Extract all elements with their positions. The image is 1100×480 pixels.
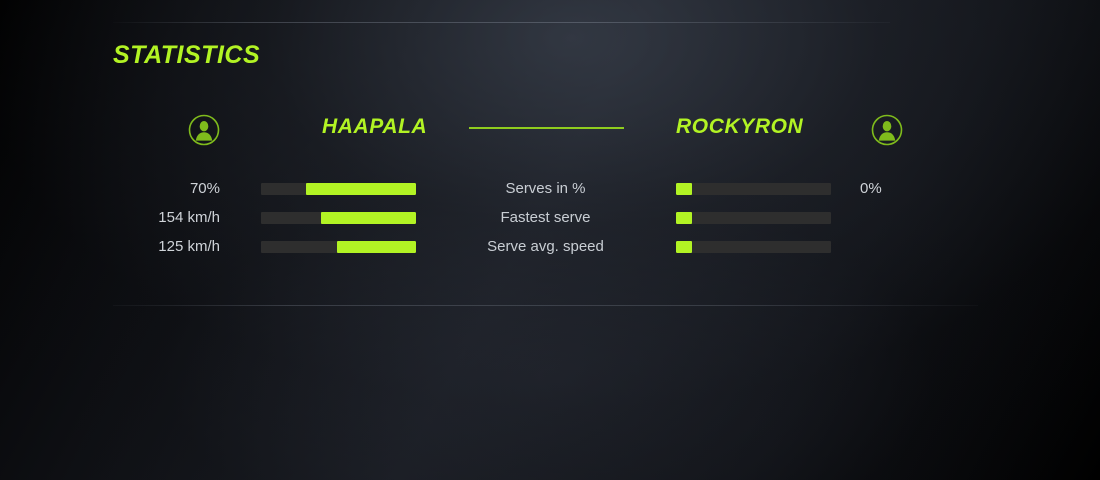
stat-row: 70% Serves in % 0%	[0, 178, 1100, 207]
bottom-divider	[113, 305, 978, 306]
left-bar-track	[261, 241, 416, 253]
left-bar-fill	[321, 212, 416, 224]
header-center-divider	[469, 127, 624, 129]
stats-rows: 70% Serves in % 0% 154 km/h Fastest serv…	[0, 178, 1100, 265]
right-value: 0%	[860, 178, 950, 200]
right-bar-fill	[676, 183, 692, 195]
right-bar-fill	[676, 241, 692, 253]
right-bar-track	[676, 183, 831, 195]
avatar-icon-left-player[interactable]	[186, 112, 222, 148]
right-bar-track	[676, 241, 831, 253]
stat-label: Serve avg. speed	[420, 236, 671, 258]
left-value: 154 km/h	[100, 207, 220, 229]
top-divider	[113, 22, 890, 23]
left-bar-track	[261, 212, 416, 224]
player-name-left: HAAPALA	[322, 115, 427, 139]
left-value: 70%	[100, 178, 220, 200]
left-bar-fill	[306, 183, 416, 195]
right-bar-track	[676, 212, 831, 224]
stat-label: Fastest serve	[420, 207, 671, 229]
page-title: STATISTICS	[113, 41, 260, 70]
stat-label: Serves in %	[420, 178, 671, 200]
left-value: 125 km/h	[100, 236, 220, 258]
statistics-panel: STATISTICS HAAPALA ROCKYRON 70%	[0, 0, 1100, 480]
right-bar-fill	[676, 212, 692, 224]
player-name-right: ROCKYRON	[676, 115, 803, 139]
stat-row: 154 km/h Fastest serve	[0, 207, 1100, 236]
players-header: HAAPALA ROCKYRON	[0, 112, 1100, 148]
stat-row: 125 km/h Serve avg. speed	[0, 236, 1100, 265]
left-bar-fill	[337, 241, 416, 253]
avatar-icon-right-player[interactable]	[869, 112, 905, 148]
left-bar-track	[261, 183, 416, 195]
